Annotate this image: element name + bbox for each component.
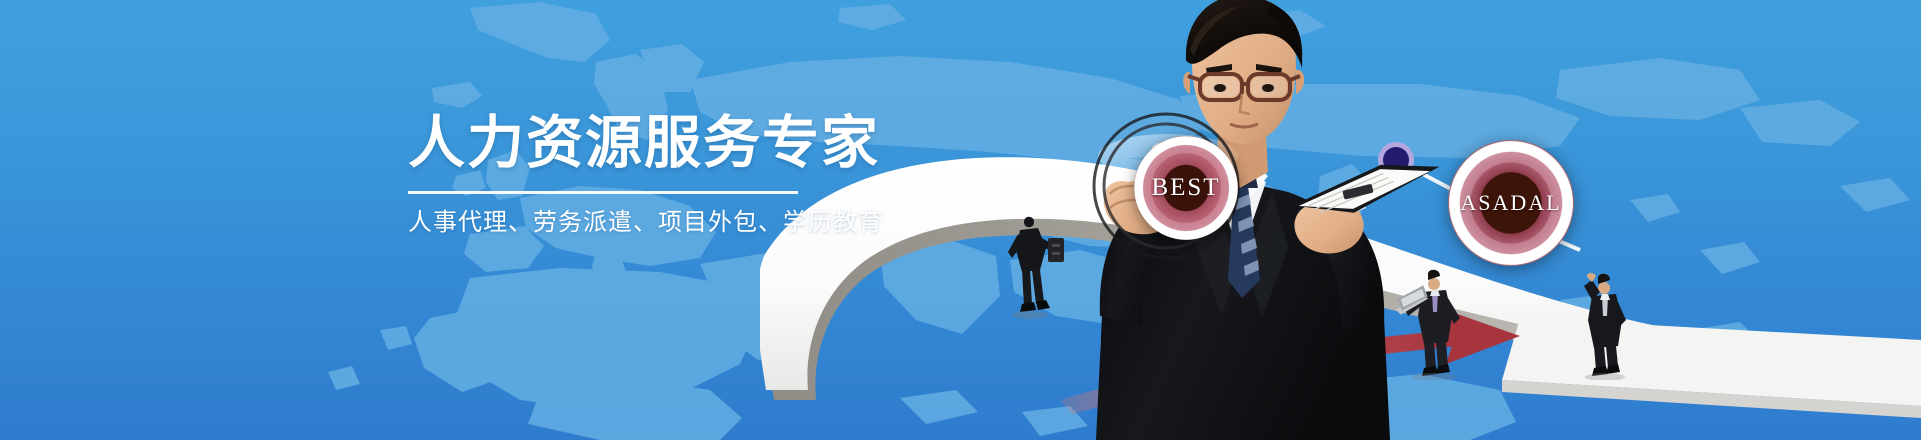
businessman-with-glasses <box>1040 0 1440 440</box>
banner-text-block: 人力资源服务专家 人事代理、劳务派遣、项目外包、学历教育 <box>408 112 798 238</box>
best-badge-label: BEST <box>1151 174 1220 202</box>
asadal-badge: ASADAL <box>1448 140 1574 266</box>
best-badge: BEST <box>1134 136 1238 240</box>
hero-banner: BEST ASADAL <box>0 0 1921 440</box>
page-subtitle: 人事代理、劳务派遣、项目外包、学历教育 <box>408 207 798 238</box>
page-title: 人力资源服务专家 <box>408 112 798 176</box>
title-divider <box>408 191 798 194</box>
figure-looking-ahead <box>1570 268 1636 380</box>
figure-holding-laptop <box>1390 262 1470 380</box>
asadal-badge-label: ASADAL <box>1460 190 1561 216</box>
figure-with-briefcase <box>1000 212 1064 320</box>
